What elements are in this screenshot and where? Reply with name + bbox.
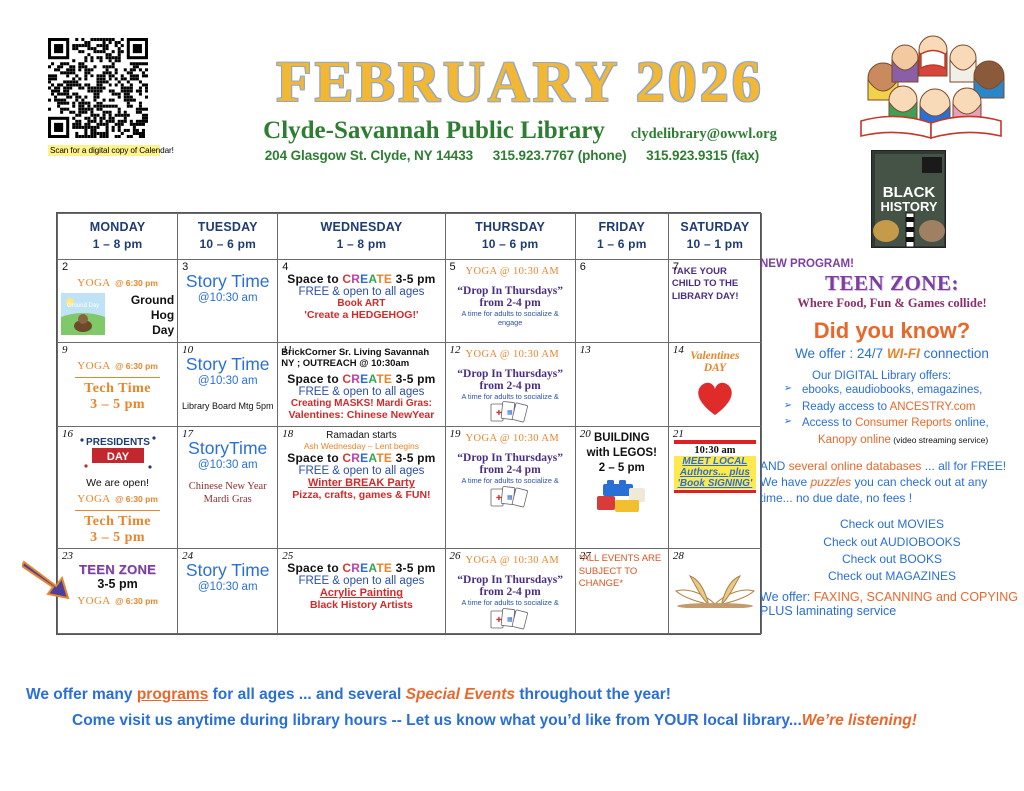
footer-2a: Come visit us anytime during library hou… [72, 712, 802, 729]
bullet-text: ebooks, eaudiobooks, emagazines, [802, 382, 982, 399]
calendar-day-27[interactable]: 27*ALL EVENTS ARE SUBJECT TO CHANGE* [575, 549, 668, 634]
calendar-day-24[interactable]: 24Story Time@10:30 am [178, 549, 278, 634]
calendar-col-saturday: SATURDAY10 – 1 pm [668, 214, 761, 260]
story-time-hours: @10:30 am [181, 459, 274, 471]
arrow-bullet-icon: ➢ [780, 399, 796, 416]
story-time-hours: @10:30 am [181, 581, 274, 593]
activity-line-1: Creating MASKS! Mardi Gras: [281, 398, 441, 409]
free-open-note: FREE & open to all ages [281, 386, 441, 398]
footer-1c: throughout the year! [515, 686, 671, 703]
calendar-day-11[interactable]: 11BrickCorner Sr. Living Savannah NY ; O… [278, 342, 445, 427]
activity-line-1: Acrylic Painting [281, 587, 441, 599]
take-child-to-library-day: TAKE YOUR CHILD TO THE LIBRARY DAY! [672, 266, 758, 304]
puzzles-prefix: We have [760, 475, 810, 489]
day-name: FRIDAY [576, 218, 668, 236]
day-number: 7 [673, 261, 679, 273]
library-email[interactable]: clydelibrary@owwl.org [631, 126, 777, 143]
calendar-week-row: 16PRESIDENTSDAYWe are open!YOGA @ 6:30 p… [58, 427, 762, 549]
day-hours: 1 – 8 pm [278, 236, 444, 253]
and-prefix: AND [760, 459, 789, 473]
digital-bullet: ➢ebooks, eaudiobooks, emagazines, [780, 382, 1024, 399]
day-number: 18 [282, 428, 293, 440]
events-subject-to-change: *ALL EVENTS ARE SUBJECT TO CHANGE* [579, 553, 665, 590]
yoga-entry: YOGA @ 10:30 AM [466, 433, 560, 444]
day-number: 20 [580, 428, 591, 440]
meet-time: 10:30 am [674, 445, 756, 456]
svg-text:Ground Day: Ground Day [67, 303, 99, 309]
did-you-know-heading: Did you know? [760, 318, 1024, 344]
day-number: 2 [62, 261, 68, 273]
wifi-label: WI-FI [887, 346, 920, 361]
footer-special-events: Special Events [406, 686, 515, 703]
space-to-create-label: Space to CREATE 3-5 pm [281, 272, 441, 286]
groundhog-day-image: Ground Day [61, 293, 105, 340]
checkout-item: Check out BOOKS [760, 551, 1024, 568]
meet-line-2: Authors... plus [674, 467, 756, 478]
divider [674, 490, 756, 493]
digital-bullet: ➢Access to Consumer Reports online, [780, 415, 1024, 432]
bullet-text: Access to Consumer Reports online, [802, 415, 989, 432]
footer-1b: for all ages ... and several [208, 686, 405, 703]
day-number: 4 [282, 261, 288, 273]
footer-line-1: We offer many programs for all ages ... … [26, 686, 1024, 704]
day-number: 5 [450, 261, 456, 273]
and-suffix: ... all for FREE! [921, 459, 1006, 473]
ash-wednesday-note: Ash Wednesday – Lent begins [281, 441, 441, 451]
footer-programs-link[interactable]: programs [137, 686, 209, 703]
story-time-title: Story Time [181, 560, 274, 581]
day-hours: 10 – 6 pm [178, 236, 277, 253]
tech-time-label: Tech Time [61, 381, 174, 397]
new-program-label: NEW PROGRAM! [760, 258, 1024, 270]
qr-code-block: Scan for a digital copy of Calendar! [48, 38, 160, 156]
calendar-day-21[interactable]: 2110:30 amMEET LOCALAuthors... plus'Book… [668, 427, 761, 549]
svg-text:▦: ▦ [507, 495, 513, 501]
day-name: TUESDAY [178, 218, 277, 236]
calendar-day-2[interactable]: 2YOGA @ 6:30 pmGround DayGroundHogDay [58, 259, 178, 342]
drop-in-thursdays: “Drop In Thursdays”from 2-4 pmA time for… [449, 285, 572, 328]
day-number: 9 [62, 344, 68, 356]
checkout-item: Check out MAGAZINES [760, 568, 1024, 585]
cards-icon: ✚▦ [449, 483, 572, 509]
groundhog-day-label: GroundHogDay [111, 293, 174, 338]
svg-text:✚: ✚ [496, 409, 502, 417]
day-hours: 10 – 6 pm [446, 236, 575, 253]
day-number: 25 [282, 550, 293, 562]
wifi-offer: We offer : 24/7 WI-FI connection [760, 346, 1024, 361]
calendar-day-7[interactable]: 7TAKE YOUR CHILD TO THE LIBRARY DAY! [668, 259, 761, 342]
day-hours: 10 – 1 pm [669, 236, 761, 253]
divider [75, 510, 160, 511]
cards-icon: ✚▦ [449, 398, 572, 424]
teen-zone-subtitle: Where Food, Fun & Games collide! [760, 296, 1024, 311]
calendar-col-wednesday: WEDNESDAY1 – 8 pm [278, 214, 445, 260]
puzzles-suffix: you can check out at any [851, 475, 987, 489]
meet-line-3: 'Book SIGNING' [674, 478, 756, 489]
day-number: 21 [673, 428, 684, 440]
calendar-day-17[interactable]: 17StoryTime@10:30 amChinese New YearMard… [178, 427, 278, 549]
bullet-text: Ready access to ANCESTRY.com [802, 399, 975, 416]
ramadan-note: Ramadan starts [281, 430, 441, 441]
library-name: Clyde-Savannah Public Library [263, 117, 605, 145]
svg-text:▦: ▦ [507, 617, 513, 623]
black-history-poster: BLACK HISTORY [871, 150, 946, 248]
teen-zone-title: TEEN ZONE: [760, 271, 1024, 296]
space-to-create-label: Space to CREATE 3-5 pm [281, 561, 441, 575]
calendar-col-thursday: THURSDAY10 – 6 pm [445, 214, 575, 260]
day-name: THURSDAY [446, 218, 575, 236]
library-fax: 315.923.9315 (fax) [646, 148, 759, 163]
puzzles-accent: puzzles [810, 475, 851, 489]
digital-bullet: ➢Ready access to ANCESTRY.com [780, 399, 1024, 416]
day-number: 24 [182, 550, 193, 562]
calendar-week-row: 23TEEN ZONE3-5 pmYOGA @ 6:30 pm24Story T… [58, 549, 762, 634]
free-open-note: FREE & open to all ages [281, 286, 441, 298]
activity-line-2: Valentines: Chinese NewYear [281, 409, 441, 421]
presidents-day-image: PRESIDENTSDAY [72, 430, 164, 477]
day-name: WEDNESDAY [278, 218, 444, 236]
footer-line-2: Come visit us anytime during library hou… [72, 712, 1024, 730]
day-number: 14 [673, 344, 684, 356]
black-history-row: BLACK HISTORY [760, 150, 1024, 248]
day-number: 13 [580, 344, 591, 356]
svg-text:✚: ✚ [496, 616, 502, 624]
day-number: 6 [580, 261, 586, 273]
laminating-text: laminating service [796, 604, 896, 618]
calendar-week-row: 9YOGA @ 6:30 pmTech Time3 – 5 pm10Story … [58, 342, 762, 427]
activity-line-1: Book ART [281, 298, 441, 309]
day-number: 11 [282, 344, 292, 356]
open-book-image [672, 574, 758, 613]
svg-text:✚: ✚ [496, 494, 502, 502]
activity-line-2: Black History Artists [281, 599, 441, 611]
kanopy-text: Kanopy online (video streaming service) [818, 432, 988, 449]
services-prefix: We offer: [760, 590, 814, 604]
calendar-day-14[interactable]: 14ValentinesDAY [668, 342, 761, 427]
calendar-col-friday: FRIDAY1 – 6 pm [575, 214, 668, 260]
footer: We offer many programs for all ages ... … [0, 686, 1024, 730]
no-fees-line: time... no due date, no fees ! [760, 490, 1024, 506]
divider [75, 377, 160, 378]
library-line: Clyde-Savannah Public Library clydelibra… [180, 117, 860, 145]
calendar-day-28[interactable]: 28 [668, 549, 761, 634]
arrow-bullet-icon: ➢ [780, 382, 796, 399]
library-address: 204 Glasgow St. Clyde, NY 14433 [265, 148, 473, 163]
day-number: 28 [673, 550, 684, 562]
calendar-col-tuesday: TUESDAY10 – 6 pm [178, 214, 278, 260]
tech-time-hours: 3 – 5 pm [61, 397, 174, 413]
qr-caption: Scan for a digital copy of Calendar! [48, 145, 160, 156]
svg-text:▦: ▦ [507, 410, 513, 416]
tech-time-hours: 3 – 5 pm [61, 530, 174, 546]
library-contact: 204 Glasgow St. Clyde, NY 14433 315.923.… [180, 148, 860, 163]
library-board-meeting: Library Board Mtg 5pm [181, 401, 274, 411]
calendar-day-19[interactable]: 19YOGA @ 10:30 AM“Drop In Thursdays”from… [445, 427, 575, 549]
day-hours: 1 – 6 pm [576, 236, 668, 253]
calendar-day-12[interactable]: 12YOGA @ 10:30 AM“Drop In Thursdays”from… [445, 342, 575, 427]
calendar-day-18[interactable]: 18Ramadan startsAsh Wednesday – Lent beg… [278, 427, 445, 549]
databases-accent: several online databases [789, 459, 922, 473]
day-name: SATURDAY [669, 218, 761, 236]
calendar-day-16[interactable]: 16PRESIDENTSDAYWe are open!YOGA @ 6:30 p… [58, 427, 178, 549]
checkout-item: Check out MOVIES [760, 516, 1024, 533]
calendar-day-10[interactable]: 10Story Time@10:30 amLibrary Board Mtg 5… [178, 342, 278, 427]
calendar-day-6[interactable]: 6 [575, 259, 668, 342]
sidebar: BLACK HISTORY NEW PROGRAM! TEEN ZONE: Wh… [760, 150, 1024, 618]
yoga-entry: YOGA @ 6:30 pm [61, 489, 174, 507]
calendar-day-25[interactable]: 25Space to CREATE 3-5 pmFREE & open to a… [278, 549, 445, 634]
space-to-create-label: Space to CREATE 3-5 pm [281, 372, 441, 386]
qr-code-image[interactable] [48, 38, 148, 138]
story-time-title: StoryTime [181, 438, 274, 459]
masthead: FEBRUARY 2026 Clyde-Savannah Public Libr… [180, 52, 860, 163]
meet-local-authors-box[interactable]: 10:30 amMEET LOCALAuthors... plus'Book S… [674, 440, 756, 493]
services-line: We offer: FAXING, SCANNING and COPYING P… [760, 590, 1024, 618]
page-title: FEBRUARY 2026 [180, 52, 860, 113]
svg-text:HISTORY: HISTORY [880, 199, 937, 214]
space-to-create-label: Space to CREATE 3-5 pm [281, 451, 441, 465]
calendar-day-9[interactable]: 9YOGA @ 6:30 pmTech Time3 – 5 pm [58, 342, 178, 427]
day-number: 26 [450, 550, 461, 562]
svg-text:DAY: DAY [106, 451, 129, 463]
day-number: 10 [182, 344, 193, 356]
footer-1a: We offer many [26, 686, 137, 703]
calendar-day-3[interactable]: 3Story Time@10:30 am [178, 259, 278, 342]
day-name: MONDAY [58, 218, 177, 236]
story-time-hours: @10:30 am [181, 292, 274, 304]
outreach-note: BrickCorner Sr. Living Savannah NY ; OUT… [281, 347, 441, 371]
valentines-day-label: ValentinesDAY [672, 350, 758, 374]
calendar-col-monday: MONDAY1 – 8 pm [58, 214, 178, 260]
yoga-entry: YOGA @ 6:30 pm [61, 356, 174, 374]
day-number: 16 [62, 428, 73, 440]
day-number: 12 [450, 344, 461, 356]
activity-line-1: Winter BREAK Party [281, 477, 441, 489]
checkout-item: Check out AUDIOBOOKS [760, 534, 1024, 551]
heart-icon [693, 377, 737, 417]
activity-line-2: 'Create a HEDGEHOG!' [281, 309, 441, 321]
children-reading-illustration [843, 18, 1023, 143]
calendar-day-20[interactable]: 20BUILDINGwith LEGOS!2 – 5 pm [575, 427, 668, 549]
we-are-open: We are open! [61, 477, 174, 489]
services-accent: FAXING, SCANNING and COPYING [814, 590, 1018, 604]
day-number: 19 [450, 428, 461, 440]
free-open-note: FREE & open to all ages [281, 465, 441, 477]
digital-library-heading: Our DIGITAL Library offers: [812, 370, 1024, 382]
arrow-bullet-icon: ➢ [780, 415, 796, 432]
yoga-entry: YOGA @ 10:30 AM [466, 555, 560, 566]
calendar-day-5[interactable]: 5YOGA @ 10:30 AM“Drop In Thursdays”from … [445, 259, 575, 342]
footer-listening: We’re listening! [802, 712, 917, 729]
tech-time-label: Tech Time [61, 514, 174, 530]
svg-text:PRESIDENTS: PRESIDENTS [86, 437, 150, 448]
calendar-week-row: 2YOGA @ 6:30 pmGround DayGroundHogDay3St… [58, 259, 762, 342]
day-hours: 1 – 8 pm [58, 236, 177, 253]
story-time-title: Story Time [181, 354, 274, 375]
lego-building-entry: BUILDINGwith LEGOS!2 – 5 pm [579, 431, 665, 476]
free-open-note: FREE & open to all ages [281, 575, 441, 587]
yoga-entry: YOGA @ 10:30 AM [466, 349, 560, 360]
story-time-hours: @10:30 am [181, 375, 274, 387]
day-number: 17 [182, 428, 193, 440]
day-number: 27 [580, 550, 591, 562]
chinese-new-year-note: Chinese New YearMardi Gras [181, 481, 274, 506]
lego-bricks-image [579, 478, 665, 516]
yoga-entry: YOGA @ 10:30 AM [466, 266, 560, 277]
day-number: 3 [182, 261, 188, 273]
story-time-title: Story Time [181, 271, 274, 292]
library-phone: 315.923.7767 (phone) [493, 148, 627, 163]
calendar-header-row: MONDAY1 – 8 pmTUESDAY10 – 6 pmWEDNESDAY1… [58, 214, 762, 260]
calendar-grid: MONDAY1 – 8 pmTUESDAY10 – 6 pmWEDNESDAY1… [56, 212, 761, 635]
checkout-list: Check out MOVIESCheck out AUDIOBOOKSChec… [760, 516, 1024, 586]
meet-line-1: MEET LOCAL [674, 456, 756, 467]
wifi-post: connection [920, 346, 989, 361]
divider [674, 440, 756, 443]
laminating-prefix: PLUS [760, 604, 796, 618]
pointer-arrow-icon [22, 556, 82, 602]
digital-library-bullets: ➢ebooks, eaudiobooks, emagazines,➢Ready … [760, 382, 1024, 449]
activity-line-2: Pizza, crafts, games & FUN! [281, 489, 441, 501]
cards-icon: ✚▦ [449, 605, 572, 631]
calendar-day-26[interactable]: 26YOGA @ 10:30 AM“Drop In Thursdays”from… [445, 549, 575, 634]
calendar-day-13[interactable]: 13 [575, 342, 668, 427]
databases-note: AND several online databases ... all for… [760, 458, 1024, 507]
calendar-day-4[interactable]: 4Space to CREATE 3-5 pmFREE & open to al… [278, 259, 445, 342]
kanopy-bullet: ➢Kanopy online (video streaming service) [780, 432, 1024, 449]
wifi-pre: We offer : 24/7 [795, 346, 887, 361]
yoga-entry: YOGA @ 6:30 pm [61, 273, 174, 291]
